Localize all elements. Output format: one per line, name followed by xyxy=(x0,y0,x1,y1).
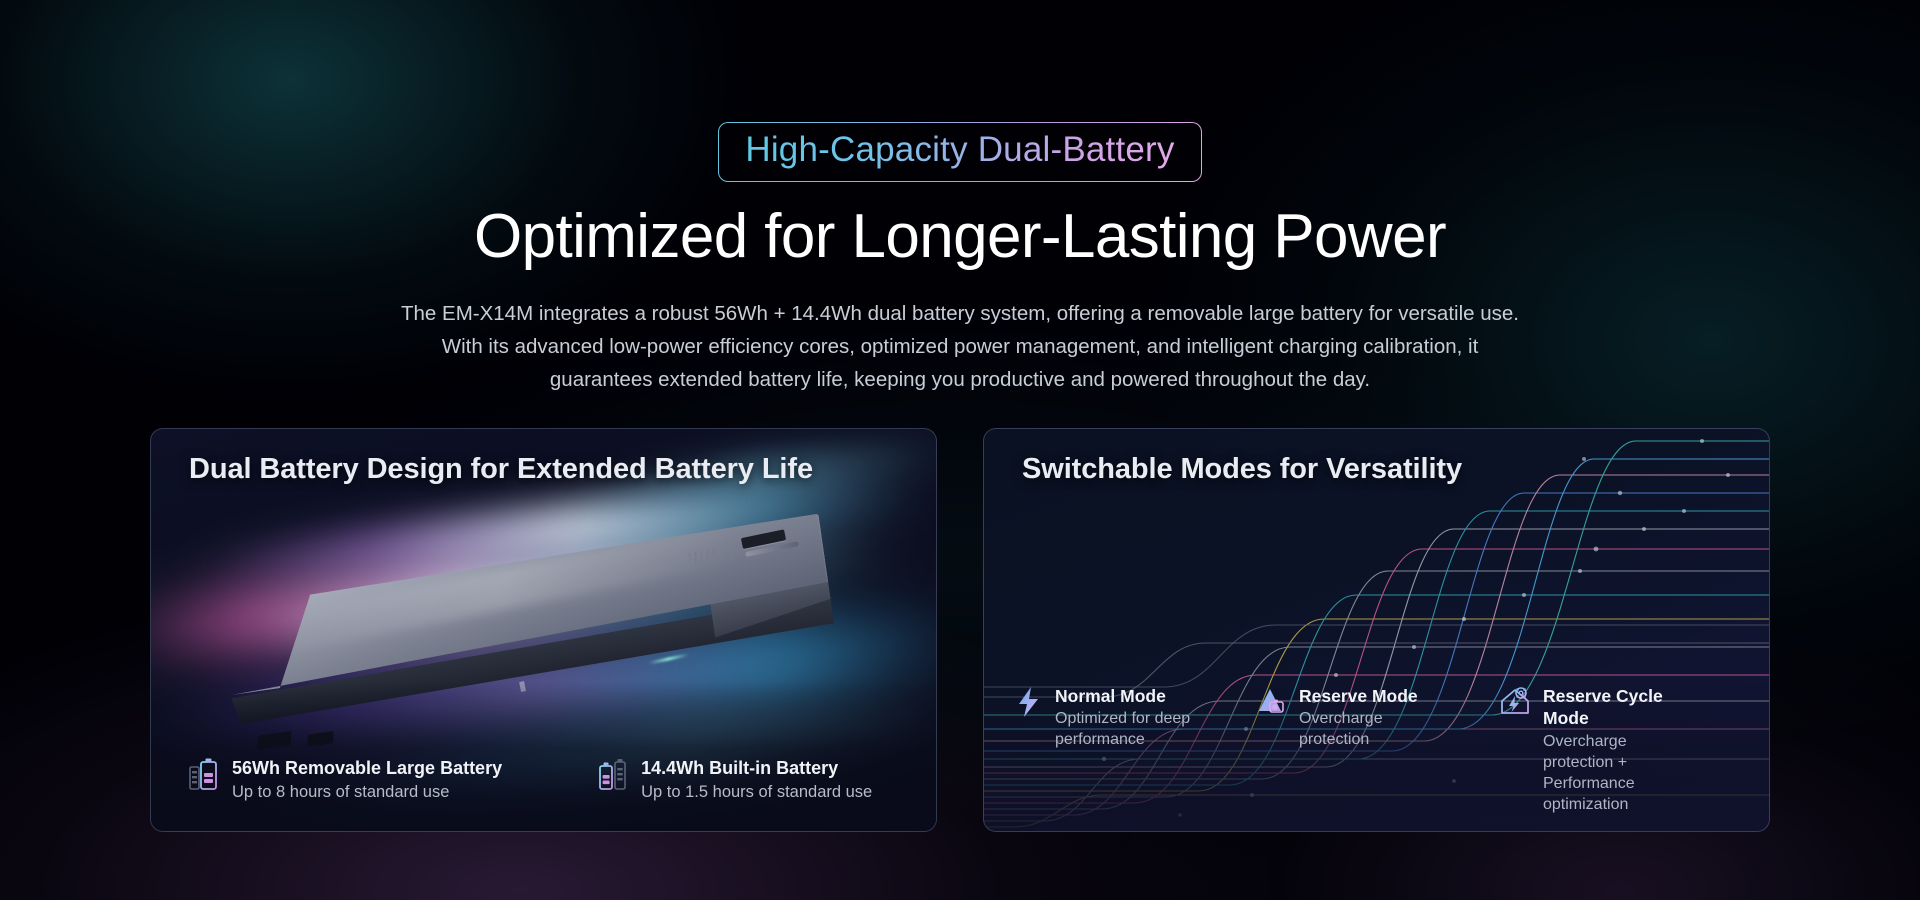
hero-paragraph-line-1: The EM-X14M integrates a robust 56Wh + 1… xyxy=(290,297,1630,330)
spec-subtitle: Up to 8 hours of standard use xyxy=(232,782,502,804)
category-badge-label: High-Capacity Dual-Battery xyxy=(745,130,1174,169)
mode-text: Normal Mode Optimized for deep performan… xyxy=(1055,685,1214,751)
mode-item-reserve: Reserve Mode Overcharge protection xyxy=(1256,685,1456,816)
spec-subtitle: Up to 1.5 hours of standard use xyxy=(641,782,872,804)
category-badge: High-Capacity Dual-Battery xyxy=(718,122,1201,182)
mode-text: Reserve Mode Overcharge protection xyxy=(1299,685,1456,751)
card-right-heading: Switchable Modes for Versatility xyxy=(1022,453,1462,486)
mode-text: Reserve Cycle Mode Overcharge protection… xyxy=(1543,685,1698,816)
spec-item-removable-battery: 56Wh Removable Large Battery Up to 8 hou… xyxy=(189,757,502,804)
dual-battery-icon xyxy=(598,757,628,791)
spec-text: 56Wh Removable Large Battery Up to 8 hou… xyxy=(232,757,502,804)
hero-paragraph: The EM-X14M integrates a robust 56Wh + 1… xyxy=(290,297,1630,397)
mode-list: Normal Mode Optimized for deep performan… xyxy=(1014,685,1698,816)
mode-subtitle: Overcharge protection + Performance opti… xyxy=(1543,732,1698,815)
hero-paragraph-line-2: With its advanced low-power efficiency c… xyxy=(290,330,1630,363)
spec-title: 14.4Wh Built-in Battery xyxy=(641,757,872,780)
hero-badge-wrapper: High-Capacity Dual-Battery xyxy=(0,0,1920,182)
battery-shield-icon xyxy=(1256,685,1288,719)
cycle-gear-bolt-icon xyxy=(1498,685,1532,719)
spec-title: 56Wh Removable Large Battery xyxy=(232,757,502,780)
mode-item-reserve-cycle: Reserve Cycle Mode Overcharge protection… xyxy=(1498,685,1698,816)
mode-item-normal: Normal Mode Optimized for deep performan… xyxy=(1014,685,1214,816)
lightning-bolt-icon xyxy=(1014,685,1044,719)
mode-subtitle: Overcharge protection xyxy=(1299,709,1456,751)
card-left-heading: Dual Battery Design for Extended Battery… xyxy=(189,453,813,486)
card-switchable-modes[interactable]: Switchable Modes for Versatility Normal … xyxy=(983,428,1770,832)
page-title: Optimized for Longer-Lasting Power xyxy=(0,204,1920,271)
mode-subtitle: Optimized for deep performance xyxy=(1055,709,1214,751)
card-dual-battery-design[interactable]: Dual Battery Design for Extended Battery… xyxy=(150,428,937,832)
spec-item-builtin-battery: 14.4Wh Built-in Battery Up to 1.5 hours … xyxy=(598,757,872,804)
feature-cards-row: Dual Battery Design for Extended Battery… xyxy=(0,428,1920,832)
mode-title: Normal Mode xyxy=(1055,685,1214,708)
hero-paragraph-line-3: guarantees extended battery life, keepin… xyxy=(290,363,1630,396)
battery-spec-list: 56Wh Removable Large Battery Up to 8 hou… xyxy=(189,757,872,804)
mode-title: Reserve Cycle Mode xyxy=(1543,685,1698,731)
mode-title: Reserve Mode xyxy=(1299,685,1456,708)
dual-battery-icon xyxy=(189,757,219,791)
spec-text: 14.4Wh Built-in Battery Up to 1.5 hours … xyxy=(641,757,872,804)
battery-feature-page: High-Capacity Dual-Battery Optimized for… xyxy=(0,0,1920,900)
battery-led-glow xyxy=(648,653,690,665)
